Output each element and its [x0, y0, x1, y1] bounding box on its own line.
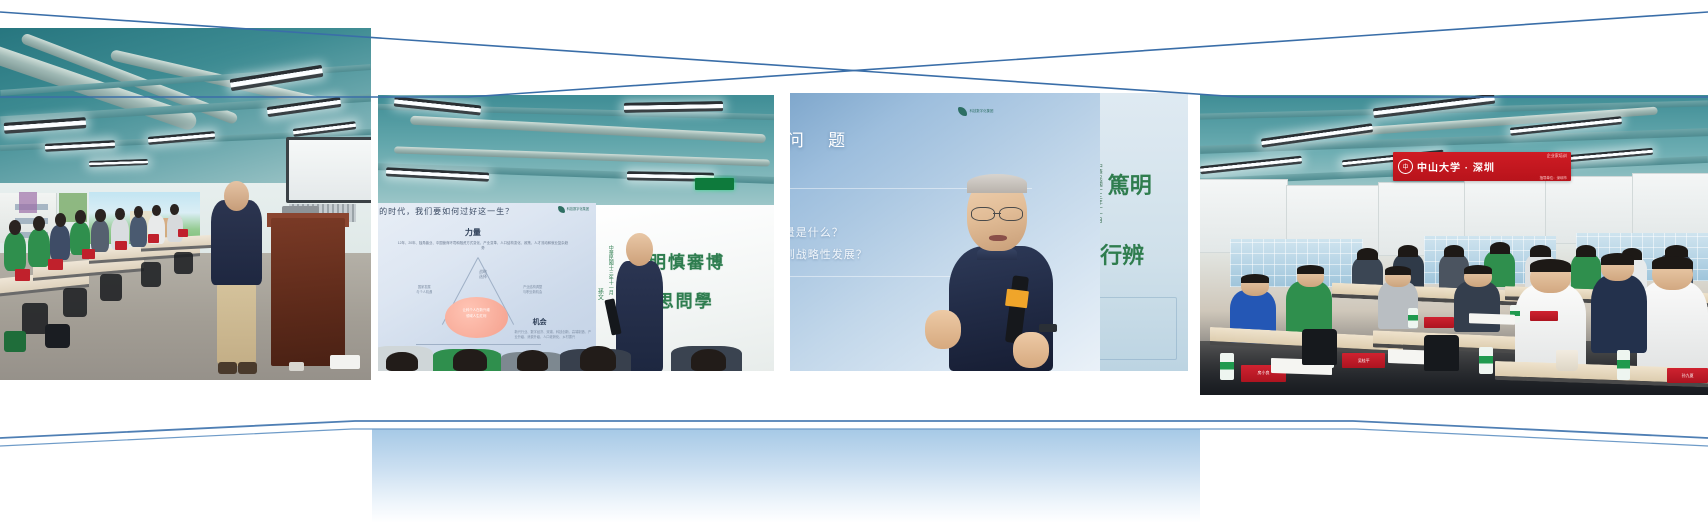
- chair: [174, 252, 193, 275]
- slide-mid-label: 战略 选择: [456, 269, 510, 280]
- chair: [100, 274, 122, 300]
- gallery-photo-3[interactable]: 篤明 行辨 中華民國十三年十一月 孫文 科技数字化集团 问 题 ？ 量是什么？ …: [790, 93, 1188, 371]
- audience-hair: [1297, 265, 1325, 274]
- audience-hair: [1490, 242, 1510, 254]
- instructor-shoe: [238, 362, 257, 374]
- audience-hair: [1530, 259, 1571, 273]
- audience-hair: [1652, 256, 1693, 270]
- whiteboard: [286, 137, 371, 203]
- name-card: [15, 269, 31, 281]
- audience-hair: [1241, 274, 1269, 283]
- participant: [4, 232, 26, 271]
- chair: [63, 288, 87, 316]
- slide-line-3: 到战略性发展？: [790, 246, 868, 262]
- slide-logo: 科技数字化集团: [958, 107, 994, 116]
- audience-member: [1286, 281, 1332, 335]
- wall-sketch: [1098, 297, 1176, 360]
- calligraphy-side-right: 中華民國十三年十一月: [607, 245, 613, 295]
- speaker-hand-right: [1013, 332, 1049, 368]
- photo-1-content: [0, 28, 371, 380]
- banner-top-text: 企业家培训: [1547, 153, 1567, 159]
- audience-hair: [1530, 245, 1550, 257]
- name-card: [115, 241, 127, 250]
- audience-hair: [1444, 245, 1464, 257]
- glasses-bridge: [993, 213, 1000, 214]
- water-bottle: [1617, 350, 1630, 380]
- audience-hair: [1398, 245, 1418, 257]
- name-card: 孙九夏: [1667, 368, 1708, 383]
- speaker-head: [626, 233, 654, 266]
- slide-circle-text: 让科个人在新兴增 领域人生红利: [445, 308, 508, 320]
- triangle-edge: [416, 344, 541, 345]
- slide-right-note: 产业结构调整 与职业新机会: [512, 285, 553, 294]
- notepad: [1469, 313, 1515, 325]
- banner-main-text: 中山大学 · 深圳: [1417, 159, 1495, 174]
- participant-head: [75, 210, 86, 223]
- audience-member: [1454, 281, 1500, 332]
- brand-mark-icon: [958, 107, 967, 116]
- backpack: [45, 324, 71, 349]
- slide-title: 的时代，我们要如何过好这一生？: [379, 206, 587, 217]
- water-bottle: [1408, 308, 1418, 328]
- participant-head: [134, 206, 144, 218]
- speaker-mouth: [989, 235, 1007, 242]
- slide-line-1: ？: [790, 199, 796, 215]
- name-card: [1424, 317, 1454, 328]
- speaker-glasses: [971, 207, 1023, 220]
- photo-3-content: 篤明 行辨 中華民國十三年十一月 孫文 科技数字化集团 问 题 ？ 量是什么？ …: [790, 93, 1188, 371]
- chair: [1424, 335, 1460, 371]
- wall-poster: [19, 192, 38, 213]
- slide-logo: 科技数字化集团: [558, 206, 589, 213]
- slide-top-label: 力量: [465, 227, 481, 238]
- microphone-flag: [1005, 289, 1029, 308]
- slide-right-sub: 新兴行业、数字经济、双碳、科技创新、高端制造、产业升级、消费升级、人口老龄化、乡…: [515, 330, 592, 339]
- wristwatch: [1039, 324, 1057, 332]
- banner-sub-text: 指导单位：深圳市: [1540, 175, 1567, 180]
- brand-mark-icon: [558, 206, 565, 213]
- name-card: [1530, 311, 1558, 321]
- participant-head: [95, 209, 105, 222]
- name-card: [148, 234, 159, 242]
- participant: [50, 225, 70, 260]
- wall-calligraphy-line-1: 篤明: [1108, 168, 1152, 200]
- audience-hair: [1385, 266, 1410, 275]
- participant: [28, 229, 50, 268]
- side-wall: 篤明 行辨 中華民國十三年十一月 孫文: [1092, 93, 1188, 371]
- audience-hair: [1601, 253, 1634, 265]
- participant: [91, 220, 110, 252]
- photo-gallery-stage: 篤明慎審博 行辨思問學 中華民國十三年十一月 孫文 的时代，我们要如何过好这一生…: [0, 0, 1708, 523]
- university-seal-icon: 中: [1398, 159, 1413, 174]
- water-bottle: [1479, 347, 1492, 374]
- name-card: [82, 249, 95, 259]
- audience-head: [517, 350, 549, 371]
- exit-sign: [695, 178, 735, 190]
- university-banner: 中 中山大学 · 深圳 企业家培训 指导单位：深圳市: [1393, 152, 1571, 181]
- slide-center-circle: 让科个人在新兴增 领域人生红利: [445, 297, 508, 338]
- calligraphy-signature: 孫文: [596, 288, 603, 300]
- paper-cup: [1556, 350, 1579, 371]
- name-card: [48, 259, 63, 270]
- gallery-photo-4[interactable]: 中 中山大学 · 深圳 企业家培训 指导单位：深圳市: [1200, 95, 1708, 395]
- projection-screen: 的时代，我们要如何过好这一生？ 科技数字化集团 力量 12年、20年、独角兽业、…: [378, 203, 596, 369]
- name-card: 吴桂平: [1342, 353, 1385, 368]
- slide-logo-text: 科技数字化集团: [970, 109, 994, 113]
- slide-heading: 问 题: [790, 126, 855, 151]
- audience-member-front: [1637, 281, 1708, 377]
- glasses-lens: [999, 207, 1023, 222]
- chair: [1302, 329, 1338, 365]
- participant: [130, 216, 147, 246]
- instructor-shoe: [218, 362, 237, 374]
- slide-logo-text: 科技数字化集团: [567, 208, 589, 212]
- backpack: [4, 331, 26, 352]
- wall-calligraphy-line-2: 行辨: [1100, 238, 1144, 270]
- audience-head: [691, 349, 727, 371]
- gallery-photo-2[interactable]: 篤明慎審博 行辨思問學 中華民國十三年十一月 孫文 的时代，我们要如何过好这一生…: [378, 95, 774, 371]
- chair: [141, 262, 161, 287]
- audience-head: [386, 352, 418, 371]
- gallery-photo-1[interactable]: [0, 28, 371, 380]
- slide-left-note: 国家发展 与个人机遇: [404, 285, 445, 294]
- audience-head: [580, 346, 616, 371]
- audience-hair: [1357, 248, 1377, 260]
- window-blind: [1632, 173, 1708, 241]
- ceiling-light: [623, 101, 722, 113]
- glasses-lens: [971, 207, 995, 222]
- instructor-torso: [211, 200, 261, 284]
- floor-papers: [330, 355, 360, 369]
- instructor-head: [224, 181, 248, 211]
- participant: [167, 214, 183, 242]
- speaker-hair: [967, 174, 1027, 193]
- speaker-hand-left: [925, 310, 961, 349]
- water-bottle: [1220, 353, 1233, 380]
- floor-cable: [289, 362, 304, 371]
- audience-member-front: [1591, 275, 1647, 353]
- slide-top-sub: 12年、20年、独角兽业、中国营商环境和融资方式变化、产业变革、人口结构变化、政…: [397, 241, 569, 251]
- audience-head: [453, 349, 487, 371]
- photo-2-content: 篤明慎審博 行辨思問學 中華民國十三年十一月 孫文 的时代，我们要如何过好这一生…: [378, 95, 774, 371]
- participant-head: [9, 220, 21, 235]
- audience-hair: [1464, 265, 1492, 275]
- slide-line-2: 量是什么？: [790, 224, 844, 240]
- photo-4-content: 中 中山大学 · 深圳 企业家培训 指导单位：深圳市: [1200, 95, 1708, 395]
- slide-right-label: 机会: [533, 317, 547, 327]
- name-card: [178, 229, 188, 237]
- audience-hair: [1576, 245, 1596, 257]
- instructor-legs: [217, 281, 256, 365]
- podium: [271, 218, 345, 366]
